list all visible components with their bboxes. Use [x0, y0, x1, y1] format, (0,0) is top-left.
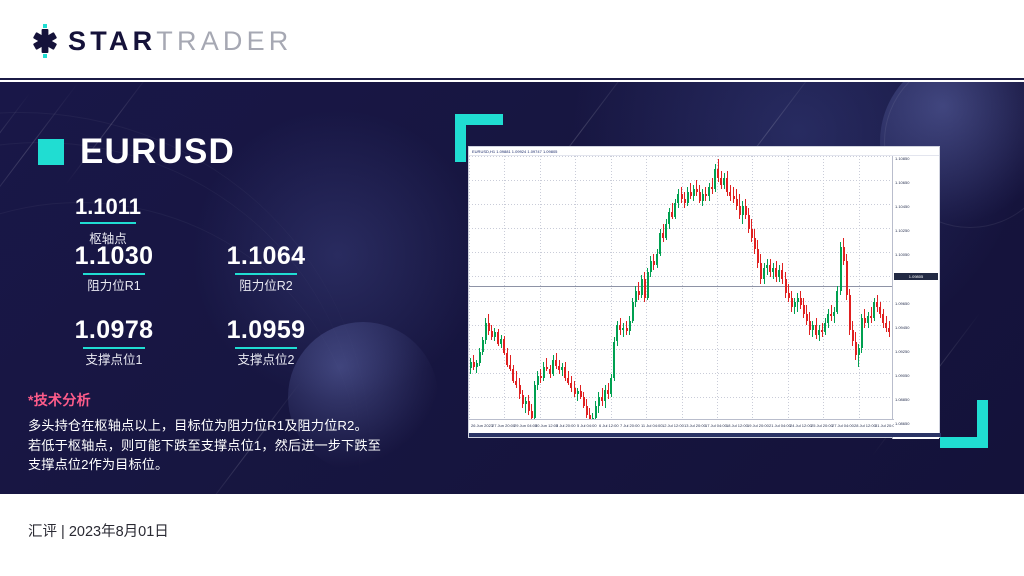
candle-body-bearish: [754, 238, 756, 250]
price-axis-label: 1.10650: [895, 180, 909, 185]
candle-body-bearish: [864, 318, 866, 323]
candle-body-bearish: [705, 194, 707, 196]
candle-body-bearish: [885, 323, 887, 328]
candle-body-bullish: [677, 194, 679, 203]
candle-body-bearish: [497, 332, 499, 344]
candle-body-bearish: [515, 381, 517, 386]
candle-body-bearish: [769, 265, 771, 272]
price-axis-label: 1.10450: [895, 204, 909, 209]
time-axis-label: 24 Jul 12:00: [790, 423, 812, 428]
candle-body-bearish: [757, 249, 759, 263]
level-r1: 1.1030 阻力位R1: [38, 242, 190, 294]
candle-body-bearish: [509, 365, 511, 370]
analysis-line-3: 支撑点位2作为目标位。: [28, 455, 396, 475]
candle-body-bearish: [644, 279, 646, 297]
candle-body-bearish: [748, 215, 750, 229]
brand-name-trader: TRADER: [156, 26, 292, 56]
candle-body-bullish: [708, 187, 710, 196]
grid-line-vertical: [717, 156, 718, 421]
grid-line-horizontal: [469, 349, 894, 350]
brand-logo[interactable]: STARTRADER: [28, 24, 293, 58]
decor-streak-1: [0, 92, 31, 212]
candle-body-bearish: [601, 397, 603, 402]
candle-body-bullish: [616, 325, 618, 341]
candle-body-bearish: [736, 199, 738, 206]
candle-body-bullish: [656, 254, 658, 266]
candle-body-bearish: [684, 199, 686, 204]
grid-line-vertical: [504, 156, 505, 421]
chart-scrollbar[interactable]: [469, 433, 941, 437]
candle-body-bullish: [479, 352, 481, 364]
star-asterisk-icon: [28, 24, 62, 58]
level-r2-underline: [235, 273, 297, 275]
instrument-symbol: EURUSD: [80, 134, 235, 169]
level-r1-value: 1.1030: [38, 242, 190, 270]
footer-caption: 汇评 | 2023年8月01日: [28, 520, 169, 541]
candle-body-bearish: [775, 268, 777, 277]
grid-line-vertical: [575, 156, 576, 421]
price-axis-label: 1.10050: [895, 252, 909, 257]
grid-line-vertical: [752, 156, 753, 421]
candle-body-bearish: [751, 229, 753, 238]
price-axis-label: 1.10850: [895, 156, 909, 161]
candle-body-bearish: [580, 391, 582, 397]
candle-body-bullish: [476, 363, 478, 366]
candle-body-bullish: [494, 332, 496, 337]
candle-body-bullish: [778, 270, 780, 277]
analysis-block: *技术分析 多头持仓在枢轴点以上，目标位为阻力位R1及阻力位R2。 若低于枢轴点…: [28, 390, 396, 475]
candle-body-bearish: [567, 378, 569, 383]
candle-body-bearish: [696, 189, 698, 191]
level-r2-value: 1.1064: [190, 242, 342, 270]
candle-body-bearish: [800, 298, 802, 305]
price-axis-label: 1.09450: [895, 325, 909, 330]
candle-body-bullish: [668, 212, 670, 224]
grid-line-vertical: [469, 156, 470, 421]
candle-wick: [712, 178, 713, 194]
candle-body-bearish: [681, 194, 683, 199]
poster-root: STARTRADER EURUSD 1.1011 枢轴点: [0, 0, 1024, 576]
price-axis-label: 1.10250: [895, 228, 909, 233]
candle-body-bullish: [561, 367, 563, 370]
candle-body-bearish: [531, 411, 533, 418]
candle-body-bearish: [711, 187, 713, 189]
candle-body-bearish: [806, 314, 808, 321]
candle-body-bearish: [830, 314, 832, 316]
candle-body-bearish: [699, 192, 701, 201]
candle-body-bullish: [500, 339, 502, 344]
candle-body-bearish: [626, 328, 628, 331]
candle-body-bullish: [537, 376, 539, 385]
chart-ohlc-label: EURUSD,H1 1.09881 1.09924 1.09747 1.0980…: [472, 147, 557, 156]
grid-line-horizontal: [469, 156, 894, 157]
candle-body-bullish: [665, 224, 667, 238]
candle-body-bullish: [873, 302, 875, 318]
candle-wick: [733, 187, 734, 203]
chart-ohlc-bar: EURUSD,H1 1.09881 1.09924 1.09747 1.0980…: [469, 147, 939, 156]
time-axis-label: 6 Jul 12:00: [599, 423, 619, 428]
candle-body-bearish: [846, 261, 848, 296]
candle-body-bullish: [824, 323, 826, 332]
candle-body-bearish: [821, 330, 823, 332]
time-axis-label: 17 Jul 04:00: [705, 423, 727, 428]
candle-body-bullish: [482, 340, 484, 352]
candle-body-bearish: [717, 169, 719, 178]
candle-body-bearish: [506, 353, 508, 365]
candle-body-bearish: [522, 395, 524, 404]
candle-body-bearish: [849, 295, 851, 330]
pivot-underline: [80, 222, 136, 224]
candle-body-bullish: [629, 321, 631, 331]
price-axis-label: 1.09050: [895, 373, 909, 378]
candle-body-bullish: [659, 233, 661, 254]
candle-body-bullish: [772, 268, 774, 273]
candle-body-bullish: [840, 247, 842, 291]
candle-body-bullish: [552, 360, 554, 374]
level-r2: 1.1064 阻力位R2: [190, 242, 342, 294]
candle-wick: [696, 180, 697, 196]
candle-body-bullish: [797, 298, 799, 303]
price-axis-label: 1.09250: [895, 349, 909, 354]
brand-header: STARTRADER: [0, 0, 1024, 80]
price-axis-label: 1.09650: [895, 301, 909, 306]
candle-body-bearish: [843, 247, 845, 261]
grid-line-horizontal: [469, 397, 894, 398]
grid-line-horizontal: [469, 204, 894, 205]
candle-body-bearish: [785, 279, 787, 293]
candle-body-bullish: [861, 318, 863, 348]
candle-body-bullish: [833, 312, 835, 317]
candle-body-bearish: [879, 307, 881, 314]
candle-body-bearish: [519, 385, 521, 394]
brand-name-star: STAR: [68, 26, 156, 56]
candle-body-bearish: [733, 196, 735, 198]
candle-body-bearish: [815, 325, 817, 334]
candle-body-bearish: [876, 302, 878, 307]
candle-body-bearish: [662, 233, 664, 238]
level-r2-label: 阻力位R2: [190, 279, 342, 294]
candle-body-bullish: [836, 291, 838, 312]
levels-grid: 1.1030 阻力位R1 1.1064 阻力位R2 1.0978 支撑点位1: [38, 242, 358, 390]
title-bullet-square: [38, 139, 64, 165]
candle-body-bullish: [525, 401, 527, 403]
candle-body-bearish: [512, 369, 514, 381]
grid-line-horizontal: [469, 252, 894, 253]
time-axis-label: 12 Jul 12:00: [662, 423, 684, 428]
candle-body-bearish: [852, 330, 854, 342]
candle-wick: [871, 307, 872, 323]
candle-body-bearish: [491, 331, 493, 337]
candle-body-bullish: [647, 272, 649, 297]
candle-body-bearish: [549, 369, 551, 374]
candle-body-bearish: [809, 321, 811, 330]
analysis-line-1: 多头持仓在枢轴点以上，目标位为阻力位R1及阻力位R2。: [28, 416, 396, 436]
time-axis-label: 21 Jul 04:00: [769, 423, 791, 428]
candle-body-bullish: [641, 279, 643, 295]
level-s1-value: 1.0978: [38, 316, 190, 344]
time-axis-label: 31 Jul 20:00: [875, 423, 894, 428]
level-s1: 1.0978 支撑点位1: [38, 316, 190, 368]
grid-line-horizontal: [469, 180, 894, 181]
time-axis-label: 13 Jul 20:00: [684, 423, 706, 428]
level-s2-underline: [235, 347, 297, 349]
candle-body-bullish: [858, 348, 860, 355]
candle-body-bullish: [812, 325, 814, 330]
price-axis-label: 1.08850: [895, 397, 909, 402]
time-axis-label: 5 Jul 04:00: [577, 423, 597, 428]
candle-body-bullish: [632, 302, 634, 320]
candle-body-bearish: [503, 339, 505, 353]
candle-body-bearish: [870, 316, 872, 318]
candle-body-bullish: [598, 397, 600, 406]
candle-wick: [797, 293, 798, 311]
level-s1-underline: [83, 347, 145, 349]
candle-body-bearish: [882, 314, 884, 323]
analysis-heading: *技术分析: [28, 390, 396, 410]
candle-body-bullish: [818, 330, 820, 335]
candle-body-bullish: [702, 194, 704, 201]
candle-body-bullish: [613, 342, 615, 379]
time-axis-label: 27 Jul 04:00: [832, 423, 854, 428]
time-axis-label: 28 Jul 12:00: [854, 423, 876, 428]
level-r1-underline: [83, 273, 145, 275]
candle-body-bearish: [586, 406, 588, 415]
candle-wick: [831, 305, 832, 321]
candle-body-bullish: [635, 291, 637, 303]
candle-body-bearish: [555, 360, 557, 366]
level-s2: 1.0959 支撑点位2: [190, 316, 342, 368]
candle-body-bullish: [674, 203, 676, 217]
corner-bracket-bottom-right: [940, 400, 988, 448]
candle-body-bullish: [485, 323, 487, 340]
level-r1-label: 阻力位R1: [38, 279, 190, 294]
candle-wick: [623, 323, 624, 337]
level-s1-label: 支撑点位1: [38, 353, 190, 368]
grid-line-vertical: [859, 156, 860, 421]
pivot-block: 1.1011 枢轴点: [48, 194, 168, 247]
candle-body-bullish: [577, 391, 579, 394]
candle-body-bearish: [803, 305, 805, 314]
trading-chart-window[interactable]: EURUSD,H1 1.09881 1.09924 1.09747 1.0980…: [468, 146, 940, 438]
candle-body-bearish: [720, 178, 722, 185]
candle-body-bullish: [867, 316, 869, 323]
grid-line-vertical: [823, 156, 824, 421]
candle-body-bearish: [726, 178, 728, 192]
candle-body-bullish: [827, 314, 829, 323]
pivot-reference-line: [469, 286, 894, 287]
candle-wick: [577, 388, 578, 402]
time-axis-label: 3 Jul 20:00: [556, 423, 576, 428]
candle-body-bearish: [583, 397, 585, 406]
time-axis-label: 7 Jul 20:00: [620, 423, 640, 428]
candle-body-bearish: [671, 212, 673, 217]
candle-body-bearish: [791, 298, 793, 307]
chart-plot-area[interactable]: [469, 156, 894, 421]
candle-body-bullish: [622, 328, 624, 330]
footer-bar: 汇评 | 2023年8月01日: [0, 494, 1024, 576]
time-axis-label: 29 Jun 04:00: [514, 423, 537, 428]
level-s2-label: 支撑点位2: [190, 353, 342, 368]
candle-body-bearish: [653, 261, 655, 266]
candle-wick: [546, 358, 547, 372]
candle-body-bullish: [470, 362, 472, 368]
candle-body-bearish: [619, 325, 621, 330]
candle-body-bearish: [607, 390, 609, 395]
analysis-line-2: 若低于枢轴点，则可能下跌至支撑点位1，然后进一步下跌至: [28, 436, 396, 456]
candle-body-bullish: [742, 206, 744, 215]
candle-body-bearish: [570, 383, 572, 388]
candle-body-bullish: [687, 192, 689, 204]
candle-body-bearish: [574, 388, 576, 395]
price-axis-label: 1.08650: [895, 421, 909, 426]
instrument-title: EURUSD: [38, 134, 235, 169]
pivot-value: 1.1011: [48, 194, 168, 219]
time-axis-label: 30 Jun 12:00: [535, 423, 558, 428]
candle-body-bearish: [564, 367, 566, 379]
candle-body-bullish: [595, 406, 597, 418]
grid-line-horizontal: [469, 325, 894, 326]
candle-body-bearish: [781, 270, 783, 279]
candle-body-bearish: [546, 367, 548, 369]
candle-body-bullish: [714, 169, 716, 190]
candle-body-bearish: [888, 328, 890, 333]
time-axis-label: 27 Jun 20:00: [492, 423, 515, 428]
grid-line-horizontal: [469, 276, 894, 277]
candle-body-bullish: [766, 265, 768, 267]
candle-body-bearish: [788, 293, 790, 298]
candle-body-bearish: [638, 291, 640, 296]
candle-body-bullish: [723, 178, 725, 185]
candle-body-bearish: [473, 362, 475, 367]
candle-body-bearish: [528, 401, 530, 410]
candle-body-bullish: [693, 189, 695, 196]
candle-body-bullish: [763, 268, 765, 280]
candle-body-bearish: [760, 263, 762, 279]
candle-body-bearish: [488, 323, 490, 331]
candle-wick: [525, 397, 526, 413]
grid-line-horizontal: [469, 301, 894, 302]
candle-body-bearish: [690, 192, 692, 197]
candle-body-bullish: [610, 378, 612, 394]
time-axis-label: 11 Jul 04:00: [641, 423, 663, 428]
candle-body-bullish: [794, 302, 796, 307]
candle-wick: [858, 344, 859, 367]
candle-body-bearish: [729, 192, 731, 197]
candle-body-bearish: [855, 342, 857, 356]
candle-body-bearish: [745, 206, 747, 215]
candle-body-bullish: [534, 385, 536, 417]
candle-body-bullish: [604, 390, 606, 402]
time-axis-label: 18 Jul 12:00: [726, 423, 748, 428]
time-axis-label: 19 Jul 20:00: [747, 423, 769, 428]
level-s2-value: 1.0959: [190, 316, 342, 344]
candle-body-bullish: [543, 367, 545, 379]
grid-line-horizontal: [469, 228, 894, 229]
time-axis-label: 26 Jun 2023: [471, 423, 493, 428]
candle-body-bullish: [650, 261, 652, 273]
time-axis-label: 25 Jul 20:00: [811, 423, 833, 428]
current-price-tag: 1.09805: [894, 273, 938, 280]
candle-body-bearish: [540, 376, 542, 378]
price-axis[interactable]: 1.108501.106501.104501.102501.100501.098…: [892, 156, 939, 439]
candle-body-bearish: [739, 206, 741, 215]
grid-line-horizontal: [469, 373, 894, 374]
candle-body-bearish: [558, 366, 560, 371]
